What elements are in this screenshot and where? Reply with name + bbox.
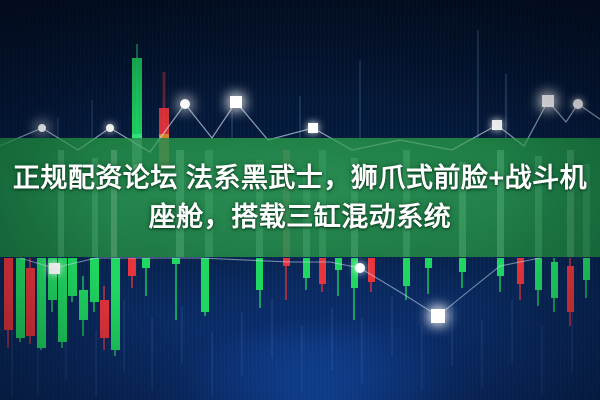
headline-line-2: 座舱，搭载三缸混动系统 — [149, 199, 452, 235]
headline-text-block: 正规配资论坛 法系黑武士，狮爪式前脸+战斗机 座舱，搭载三缸混动系统 — [0, 138, 600, 257]
banner-image: 正规配资论坛 法系黑武士，狮爪式前脸+战斗机 座舱，搭载三缸混动系统 — [0, 0, 600, 400]
headline-line-1: 正规配资论坛 法系黑武士，狮爪式前脸+战斗机 — [13, 160, 587, 196]
